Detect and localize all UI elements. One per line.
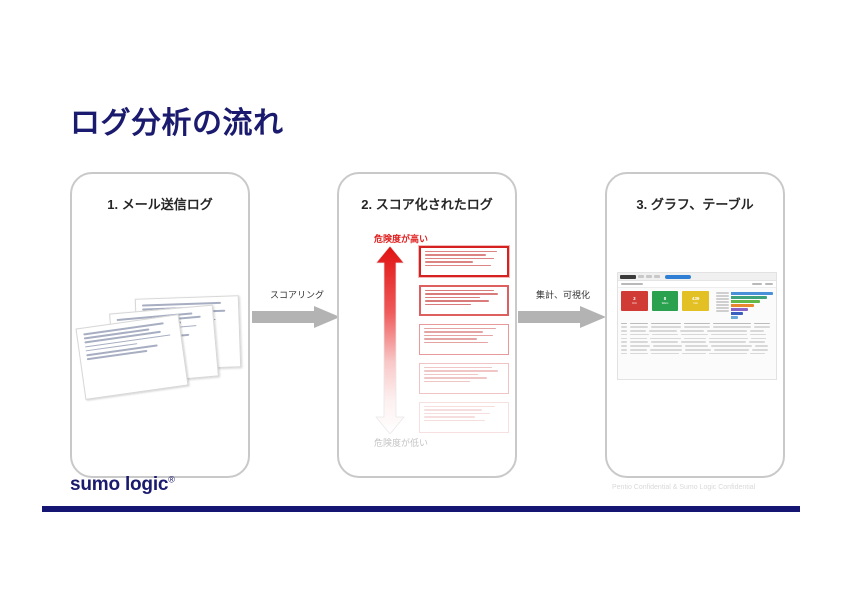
risk-gradient-arrow-icon (375, 246, 405, 434)
kpi-label: Warn (662, 302, 669, 305)
bar-chart-bar (731, 296, 767, 299)
bar-chart-label (716, 304, 729, 306)
bar-chart-label (716, 307, 729, 309)
dashboard-logo (620, 275, 636, 279)
table-row (621, 353, 773, 355)
dashboard-kpi-row: 3 Crit 8 Warn 439 Info (621, 291, 773, 319)
bar-chart-bar (731, 312, 743, 315)
connector-label-scoring: スコアリング (252, 288, 342, 301)
scored-log-box-1 (419, 246, 509, 277)
log-document-stack (78, 279, 246, 399)
sumo-logic-logo-text: sumo logic (70, 474, 168, 495)
dashboard-subheader (618, 281, 776, 288)
table-row (621, 334, 773, 336)
bar-chart-label (716, 310, 729, 312)
sumo-logic-logo: sumo logic® (70, 474, 175, 496)
slide-root: ログ分析の流れ 1. メール送信ログ (0, 0, 842, 595)
scored-log-box-4 (419, 363, 509, 394)
scored-log-box-3 (419, 324, 509, 355)
table-row (621, 341, 773, 343)
log-document-front (75, 314, 188, 400)
dashboard-breadcrumb (621, 283, 643, 286)
kpi-card-info: 439 Info (682, 291, 709, 311)
scored-log-box-5 (419, 402, 509, 433)
confidentiality-notice: Pentio Confidential & Sumo Logic Confide… (612, 484, 755, 491)
table-row (621, 345, 773, 347)
dashboard-body: 3 Crit 8 Warn 439 Info (618, 288, 776, 360)
bar-chart-bars (731, 291, 773, 319)
panel-title-2: 2. スコア化されたログ (339, 194, 515, 213)
kpi-card-critical: 3 Crit (621, 291, 648, 311)
bar-chart-label (716, 292, 729, 294)
bottom-accent-bar (42, 506, 800, 512)
bar-chart-labels (716, 291, 729, 319)
risk-high-label: 危険度が高い (359, 232, 443, 245)
dashboard-nav-item (646, 275, 652, 278)
panel-title-1: 1. メール送信ログ (72, 194, 248, 213)
connector-scoring: スコアリング (252, 288, 342, 328)
bar-chart-label (716, 301, 729, 303)
dashboard-data-table (621, 323, 773, 355)
bar-chart-label (716, 298, 729, 300)
table-row (621, 338, 773, 340)
page-title: ログ分析の流れ (70, 98, 284, 142)
scored-log-box-2 (419, 285, 509, 316)
dashboard-topbar (618, 273, 776, 281)
dashboard-thumbnail: 3 Crit 8 Warn 439 Info (617, 272, 777, 380)
bar-chart-bar (731, 300, 760, 303)
dashboard-nav-item (654, 275, 660, 278)
table-header-row (621, 323, 773, 325)
dashboard-action (765, 283, 773, 286)
dashboard-bar-chart (713, 291, 773, 319)
kpi-label: Info (693, 302, 698, 305)
panel-mail-send-log: 1. メール送信ログ (70, 172, 250, 478)
bar-chart-bar (731, 292, 773, 295)
dashboard-search-bar (665, 275, 691, 279)
connector-label-aggregate: 集計、可視化 (518, 288, 608, 301)
dashboard-action (752, 283, 762, 286)
table-row (621, 330, 773, 332)
kpi-card-warning: 8 Warn (652, 291, 679, 311)
arrow-right-icon (252, 306, 340, 328)
panel-graph-table: 3. グラフ、テーブル 3 Crit (605, 172, 785, 478)
bar-chart-bar (731, 316, 738, 319)
scored-log-list (419, 246, 509, 441)
panel-scored-log: 2. スコア化されたログ 危険度が高い 危険度が低い (337, 172, 517, 478)
registered-trademark-icon: ® (168, 475, 174, 485)
table-row (621, 326, 773, 328)
bar-chart-bar (731, 304, 754, 307)
kpi-label: Crit (632, 302, 636, 305)
arrow-right-icon (518, 306, 606, 328)
bar-chart-bar (731, 308, 748, 311)
bar-chart-label (716, 295, 729, 297)
connector-aggregate-visualize: 集計、可視化 (518, 288, 608, 328)
dashboard-nav-item (638, 275, 644, 278)
table-row (621, 349, 773, 351)
panel-title-3: 3. グラフ、テーブル (607, 194, 783, 213)
